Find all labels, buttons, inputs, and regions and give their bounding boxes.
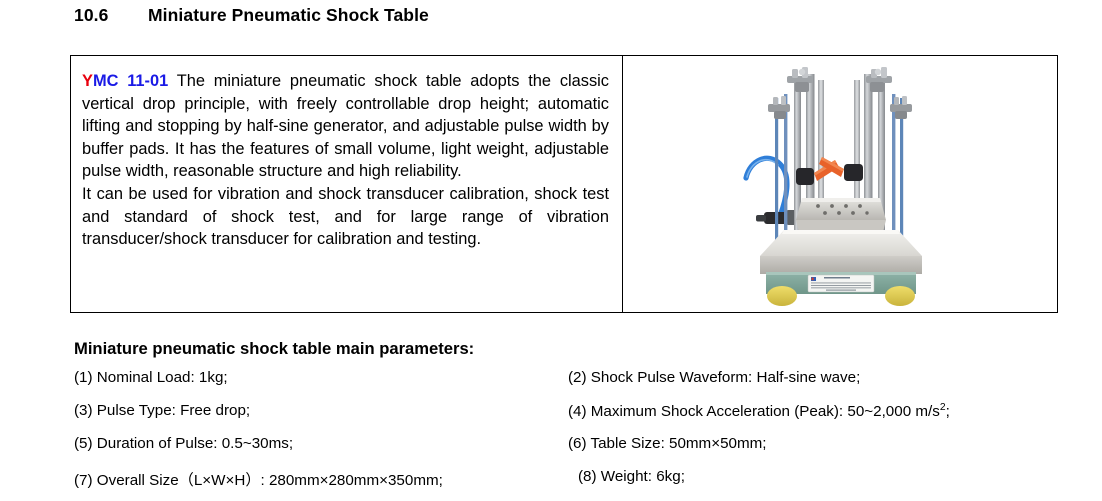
model-code-prefix: Y (82, 72, 93, 90)
spec-label-sticker (808, 275, 874, 292)
parameter-row: (1) Nominal Load: 1kg; (2) Shock Pulse W… (0, 369, 1102, 402)
product-description-paragraph-1: YMC 11-01 The miniature pneumatic shock … (82, 70, 609, 183)
parameter-item-2: (2) Shock Pulse Waveform: Half-sine wave… (568, 369, 860, 386)
parameter-row: (7) Overall Size（L×W×H）: 280mm×280mm×350… (0, 468, 1102, 501)
parameters-heading: Miniature pneumatic shock table main par… (74, 339, 474, 359)
product-overview-table: YMC 11-01 The miniature pneumatic shock … (70, 55, 1058, 313)
parameter-item-5: (5) Duration of Pulse: 0.5~30ms; (74, 435, 293, 452)
base-plate (760, 230, 922, 274)
product-description-cell: YMC 11-01 The miniature pneumatic shock … (71, 56, 623, 312)
parameter-item-4: (4) Maximum Shock Acceleration (Peak): 5… (568, 402, 950, 420)
parameter-item-4-suffix: ; (946, 403, 950, 420)
section-heading: 10.6 Miniature Pneumatic Shock Table (74, 5, 429, 26)
product-description-paragraph-2: It can be used for vibration and shock t… (82, 183, 609, 251)
product-image-cell (623, 56, 1057, 312)
parameters-list: (1) Nominal Load: 1kg; (2) Shock Pulse W… (0, 369, 1102, 501)
left-foot-icon (767, 286, 797, 306)
parameter-row: (5) Duration of Pulse: 0.5~30ms; (6) Tab… (0, 435, 1102, 468)
parameter-item-4-text: (4) Maximum Shock Acceleration (Peak): 5… (568, 403, 940, 420)
parameter-item-3: (3) Pulse Type: Free drop; (74, 402, 250, 419)
parameter-row: (3) Pulse Type: Free drop; (4) Maximum S… (0, 402, 1102, 435)
page-title: Miniature Pneumatic Shock Table (148, 5, 429, 26)
model-code-rest: MC 11-01 (93, 72, 168, 90)
parameter-item-8: (8) Weight: 6kg; (578, 468, 685, 485)
parameter-item-6: (6) Table Size: 50mm×50mm; (568, 435, 767, 452)
right-foot-icon (885, 286, 915, 306)
parameter-item-1: (1) Nominal Load: 1kg; (74, 369, 228, 386)
parameter-item-7: (7) Overall Size（L×W×H）: 280mm×280mm×350… (74, 468, 443, 490)
shock-table-photo (740, 60, 940, 308)
section-number: 10.6 (74, 5, 148, 26)
